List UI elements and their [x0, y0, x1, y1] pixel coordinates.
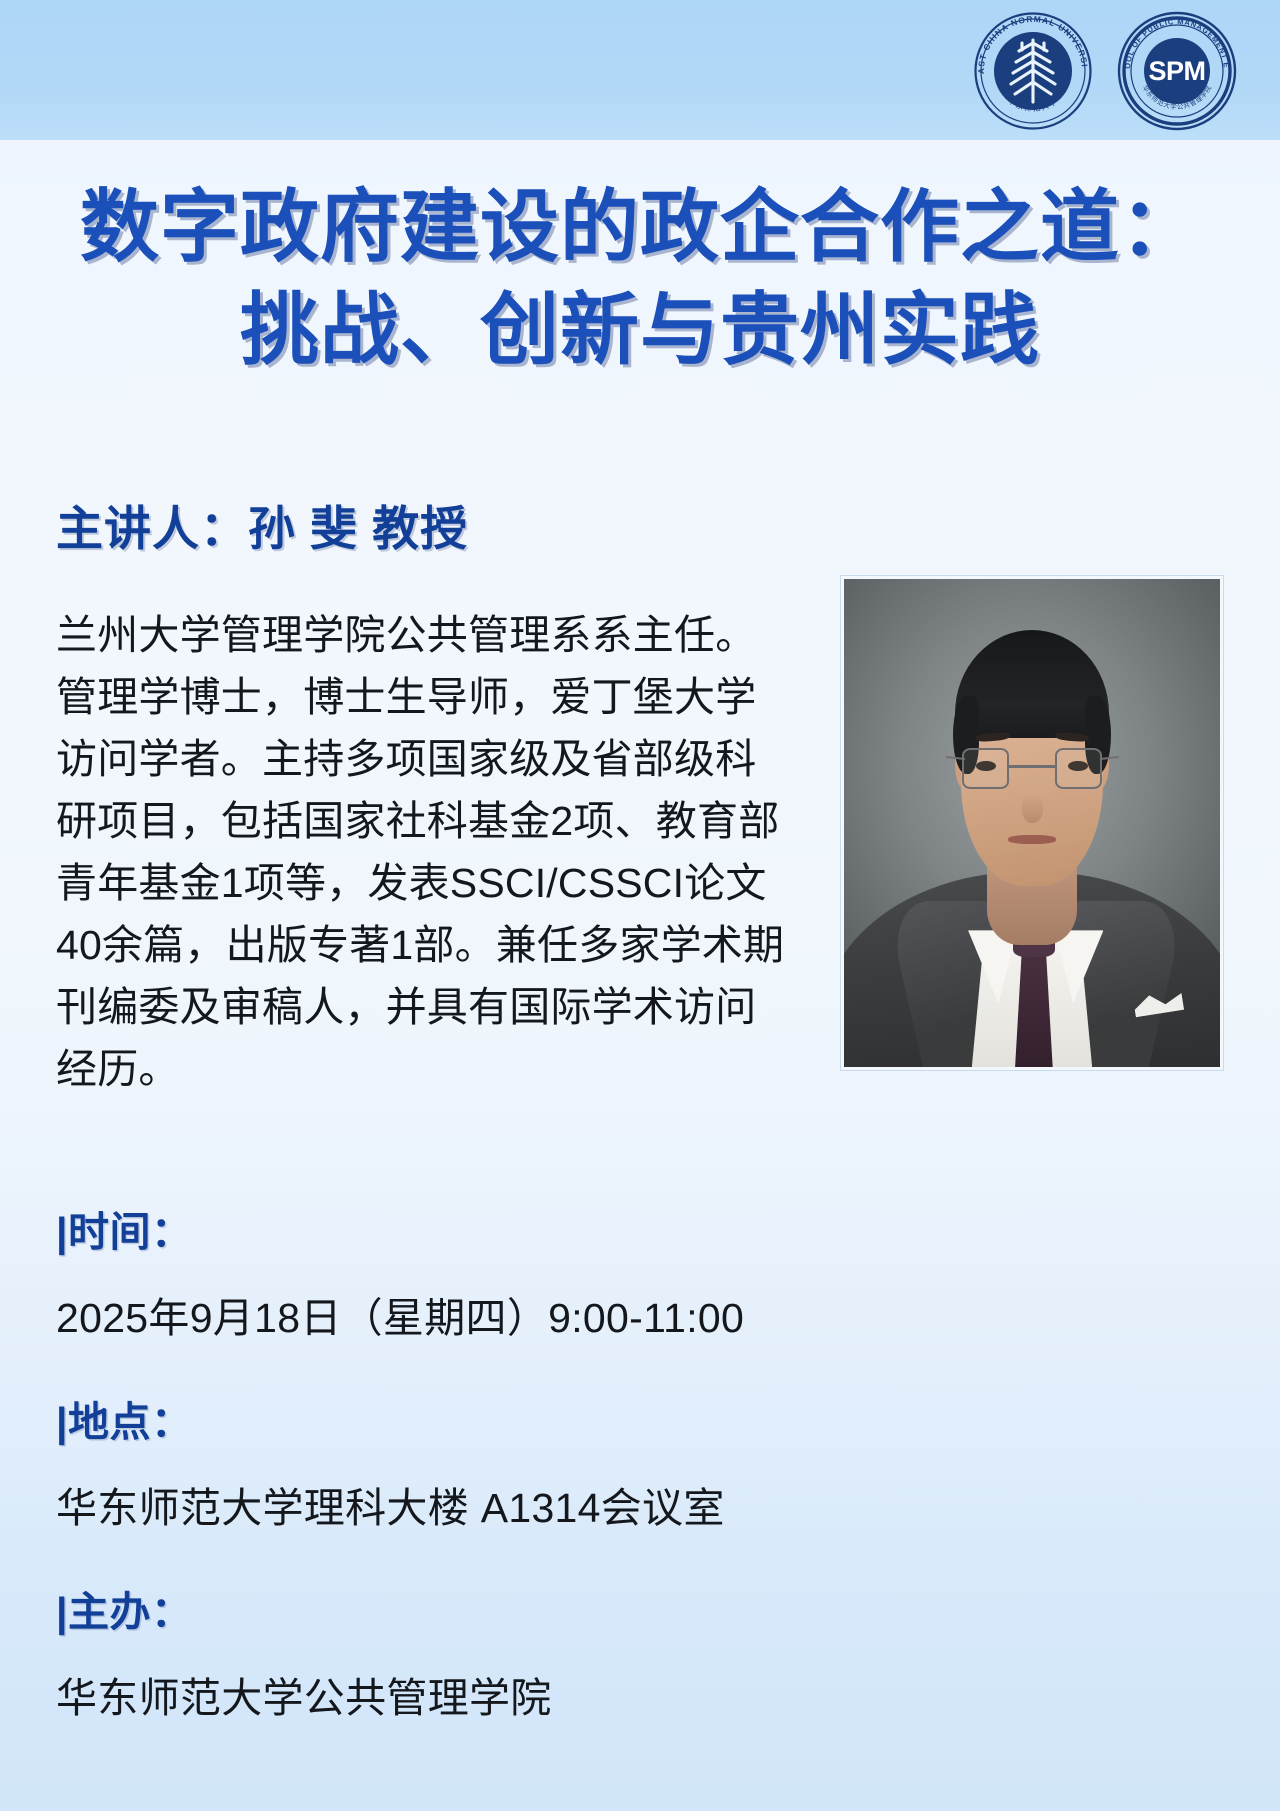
host-value: 华东师范大学公共管理学院	[56, 1664, 552, 1724]
place-label: |地点：	[56, 1388, 725, 1448]
detail-place: |地点： 华东师范大学理科大楼 A1314会议室	[56, 1388, 725, 1534]
speaker-heading: 主讲人：孙 斐 教授	[56, 490, 468, 559]
seminar-poster: EAST CHINA NORMAL UNIVERSITY 华东师范大学 SPM	[0, 0, 1280, 1811]
time-label: |时间：	[56, 1198, 744, 1258]
spm-logo-icon: SPM SCHOOL OF PUBLIC MANAGEMENT ECNU 华东师…	[1116, 10, 1238, 132]
host-label: |主办：	[56, 1578, 552, 1638]
portrait-mouth	[1008, 835, 1057, 844]
detail-host: |主办： 华东师范大学公共管理学院	[56, 1578, 552, 1724]
logo-row: EAST CHINA NORMAL UNIVERSITY 华东师范大学 SPM	[972, 10, 1238, 132]
speaker-bio: 兰州大学管理学院公共管理系系主任。管理学博士，博士生导师，爱丁堡大学访问学者。主…	[56, 604, 796, 1100]
svg-text:SPM: SPM	[1148, 56, 1205, 86]
portrait-nose	[1022, 794, 1042, 823]
portrait-glasses-left	[962, 748, 1009, 789]
portrait-glasses-temple-right	[1100, 756, 1119, 760]
detail-time: |时间： 2025年9月18日（星期四）9:00-11:00	[56, 1198, 744, 1344]
ecnu-logo-icon: EAST CHINA NORMAL UNIVERSITY 华东师范大学	[972, 10, 1094, 132]
portrait-image	[844, 579, 1220, 1067]
title-line-2: 挑战、创新与贵州实践	[40, 281, 1240, 384]
portrait-glasses-right	[1055, 748, 1102, 789]
page-title: 数字政府建设的政企合作之道： 挑战、创新与贵州实践	[0, 178, 1280, 383]
title-line-1: 数字政府建设的政企合作之道：	[40, 178, 1240, 281]
portrait-glasses-bridge	[1009, 765, 1054, 768]
speaker-portrait	[841, 576, 1223, 1070]
place-value: 华东师范大学理科大楼 A1314会议室	[56, 1474, 725, 1534]
time-value: 2025年9月18日（星期四）9:00-11:00	[56, 1284, 744, 1344]
